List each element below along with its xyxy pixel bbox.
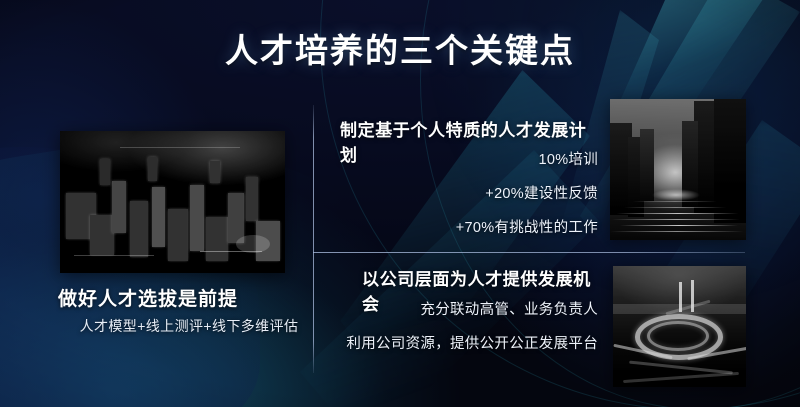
left-block-heading: 做好人才选拔是前提 (58, 284, 318, 311)
left-block-subtitle: 人才模型+线上测评+线下多维评估 (58, 316, 320, 336)
image-circular-highway-interchange (613, 266, 746, 387)
list-item: 利用公司资源，提供公开公正发展平台 (318, 332, 598, 353)
bottom-right-bullet-list: 充分联动高管、业务负责人 利用公司资源，提供公开公正发展平台 (318, 298, 598, 366)
list-item: +20%建设性反馈 (330, 182, 598, 203)
presentation-slide: 人才培养的三个关键点 (0, 0, 800, 407)
list-item: 充分联动高管、业务负责人 (318, 298, 598, 319)
slide-title: 人才培养的三个关键点 (0, 24, 800, 72)
image-aerial-night-cityscape (60, 131, 285, 273)
list-item: 10%培训 (330, 148, 598, 169)
top-right-bullet-list: 10%培训 +20%建设性反馈 +70%有挑战性的工作 (330, 148, 598, 250)
list-item: +70%有挑战性的工作 (330, 216, 598, 237)
image-city-street-light-trails (610, 99, 746, 240)
horizontal-divider (313, 252, 745, 253)
